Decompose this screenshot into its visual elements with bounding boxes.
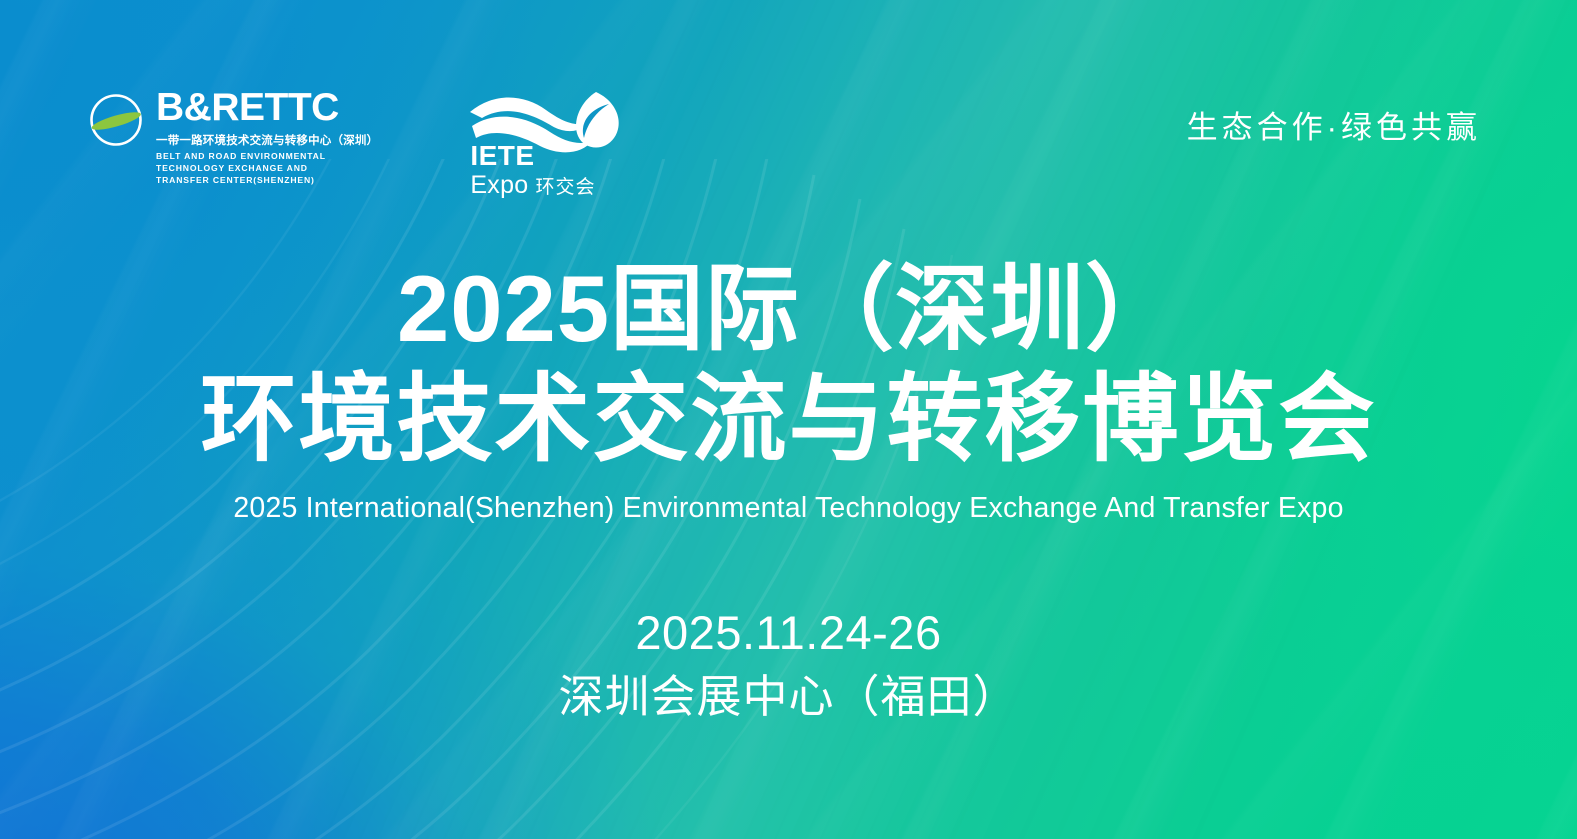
slogan-text: 生态合作·绿色共赢	[1187, 102, 1481, 147]
iete-wordmark-block: IETE Expo 环交会	[470, 142, 595, 198]
brettc-wordmark: B&RETTC	[156, 88, 378, 127]
brettc-english-name: BELT AND ROAD ENVIRONMENTAL TECHNOLOGY E…	[156, 151, 362, 187]
event-venue: 深圳会展中心（福田）	[0, 669, 1577, 725]
title-chinese-line-2: 环境技术交流与转移博览会	[0, 366, 1577, 474]
iete-expo-logo[interactable]: IETE Expo 环交会	[468, 88, 626, 192]
globe-circle-icon	[88, 92, 144, 148]
brettc-logo[interactable]: B&RETTC 一带一路环境技术交流与转移中心（深圳） BELT AND ROA…	[88, 88, 378, 187]
event-banner: B&RETTC 一带一路环境技术交流与转移中心（深圳） BELT AND ROA…	[0, 0, 1577, 839]
title-english: 2025 International(Shenzhen) Environment…	[0, 491, 1577, 525]
title-chinese-line-1: 2025国际（深圳）	[0, 258, 1577, 360]
brettc-text-block: B&RETTC 一带一路环境技术交流与转移中心（深圳） BELT AND ROA…	[156, 88, 378, 187]
iete-expo-word: Expo	[470, 173, 528, 198]
logo-row: B&RETTC 一带一路环境技术交流与转移中心（深圳） BELT AND ROA…	[88, 88, 626, 192]
headline-block: 2025国际（深圳） 环境技术交流与转移博览会 2025 Internation…	[0, 258, 1577, 525]
event-date: 2025.11.24-26	[0, 604, 1577, 663]
iete-chinese-short: 环交会	[536, 178, 596, 197]
event-meta-block: 2025.11.24-26 深圳会展中心（福田）	[0, 604, 1577, 725]
brettc-chinese-name: 一带一路环境技术交流与转移中心（深圳）	[156, 132, 378, 148]
iete-acronym: IETE	[470, 142, 595, 170]
